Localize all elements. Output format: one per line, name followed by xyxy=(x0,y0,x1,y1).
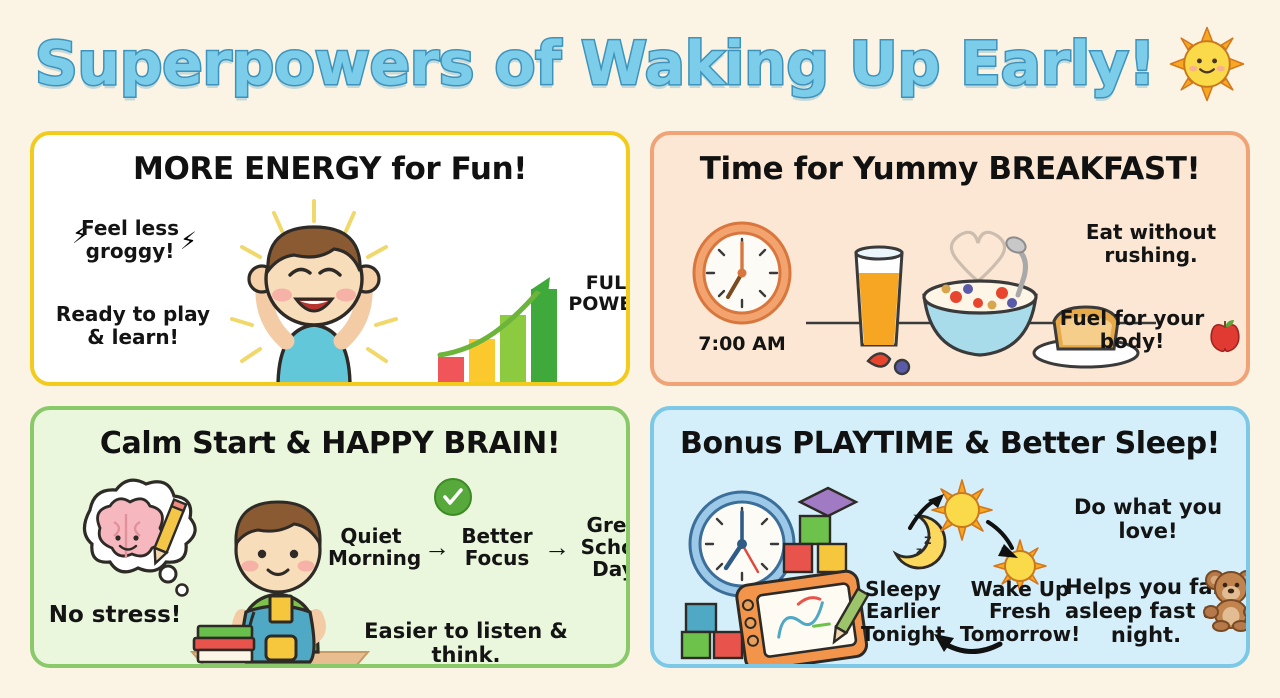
note-feel-less-groggy: Feel less groggy! xyxy=(70,217,190,263)
smiling-sun-icon xyxy=(1169,26,1245,102)
flow-arrow-icon: → xyxy=(544,534,570,560)
clock-and-toys-icon xyxy=(680,482,860,662)
card-title-breakfast: Time for Yummy BREAKFAST! xyxy=(654,151,1246,187)
note-eat-without-rushing: Eat without rushing. xyxy=(1066,221,1236,267)
note-ready-to-play: Ready to play & learn! xyxy=(48,303,218,349)
note-no-stress: No stress! xyxy=(40,602,190,628)
card-title-playtime-sleep: Bonus PLAYTIME & Better Sleep! xyxy=(654,426,1246,461)
card-playtime-sleep: Bonus PLAYTIME & Better Sleep! xyxy=(650,406,1250,668)
card-body-playtime-sleep: z z xyxy=(654,472,1246,664)
svg-text:z: z xyxy=(916,546,922,557)
chart-label-full-power: FULL POWER! xyxy=(564,273,630,316)
infographic-page: Superpowers of Waking Up Early! MORE ENE… xyxy=(0,0,1280,698)
note-fuel-for-your-body: Fuel for your body! xyxy=(1052,307,1212,353)
card-title-happy-brain: Calm Start & HAPPY BRAIN! xyxy=(34,426,626,461)
card-happy-brain: Calm Start & HAPPY BRAIN! xyxy=(30,406,630,668)
page-header: Superpowers of Waking Up Early! xyxy=(0,14,1280,114)
clock-icon xyxy=(690,221,794,325)
flow-node-better-focus: Better Focus xyxy=(460,525,534,569)
note-easier-to-listen: Easier to listen & think. xyxy=(326,620,606,668)
card-body-breakfast: 7:00 AM xyxy=(654,197,1246,382)
flow-quiet-morning-to-great-day: Quiet Morning → Better Focus → Great Sch… xyxy=(328,514,630,580)
clock-time-label: 7:00 AM xyxy=(690,333,794,355)
brain-thought-bubble-icon xyxy=(56,480,204,612)
energy-bar-chart xyxy=(432,277,582,386)
cheering-boy-icon xyxy=(216,199,412,386)
teddy-bear-icon xyxy=(1202,568,1250,630)
flow-node-quiet-morning: Quiet Morning xyxy=(328,525,414,569)
cycle-node-sleepy-earlier: Sleepy Earlier Tonight xyxy=(850,578,956,645)
card-more-energy: MORE ENERGY for Fun! ⚡ ⚡ Feel less grogg… xyxy=(30,131,630,386)
card-breakfast: Time for Yummy BREAKFAST! xyxy=(650,131,1250,386)
flow-arrow-icon: → xyxy=(424,534,450,560)
card-body-happy-brain: No stress! xyxy=(34,472,626,664)
card-body-more-energy: ⚡ ⚡ Feel less groggy! Ready to play & le… xyxy=(34,197,626,382)
apple-icon xyxy=(1210,319,1240,351)
flow-node-great-school-day: Great School Day! xyxy=(580,514,630,580)
check-circle-icon xyxy=(434,478,472,516)
page-title: Superpowers of Waking Up Early! xyxy=(35,29,1156,99)
svg-text:z: z xyxy=(924,533,932,548)
note-do-what-you-love: Do what you love! xyxy=(1064,496,1232,544)
card-title-more-energy: MORE ENERGY for Fun! xyxy=(34,151,626,187)
